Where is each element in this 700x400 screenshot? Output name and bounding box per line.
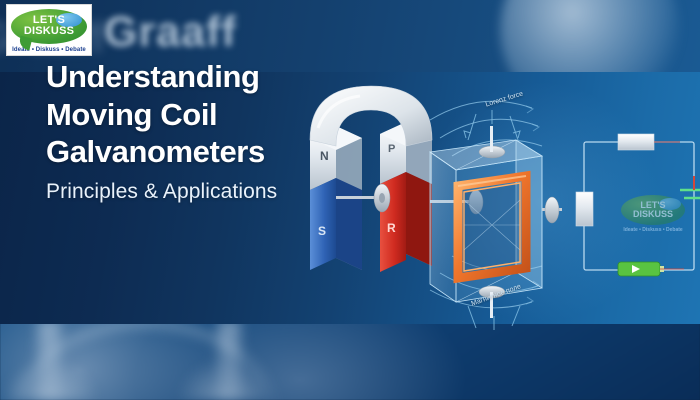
title-line-1: Understanding — [46, 58, 277, 96]
bridge-tower-right — [218, 320, 240, 400]
title-block: Understanding Moving Coil Galvanometers … — [46, 58, 277, 204]
circuit-meter — [576, 192, 593, 226]
magnet-label-p: P — [388, 143, 395, 155]
banner-image: Graaff Graaff LET'S DISKUSS Ideate • Dis… — [0, 0, 700, 400]
circuit-resistor — [618, 134, 654, 150]
watermark-tagline: Ideate • Diskuss • Debate — [623, 227, 682, 233]
watermark-bubble-icon: LET'S DISKUSS — [621, 195, 685, 225]
title-line-2: Moving Coil — [46, 96, 277, 134]
magnet-label-south: S — [318, 224, 326, 238]
circuit-battery — [618, 262, 664, 276]
watermark-logo: LET'S DISKUSS Ideate • Diskuss • Debate — [618, 192, 688, 236]
brand-logo[interactable]: LET'S DISKUSS Ideate • Diskuss • Debate — [6, 4, 92, 56]
subtitle: Principles & Applications — [46, 180, 277, 204]
magnet-label-north: N — [320, 149, 329, 163]
magnet-label-r: R — [387, 221, 396, 235]
title-line-3: Galvanometers — [46, 133, 277, 171]
header-orb — [500, 0, 680, 72]
magnet-yoke — [310, 86, 432, 146]
watermark-line-2: DISKUSS — [633, 210, 673, 219]
logo-speech-bubble-icon: LET'S DISKUSS — [11, 9, 87, 44]
housing-right-pivot — [542, 197, 562, 223]
bridge-tower-left — [38, 320, 60, 400]
logo-line-2: DISKUSS — [24, 26, 74, 38]
background-text-graaff: Graaff — [104, 8, 237, 57]
copper-coil — [458, 176, 526, 278]
